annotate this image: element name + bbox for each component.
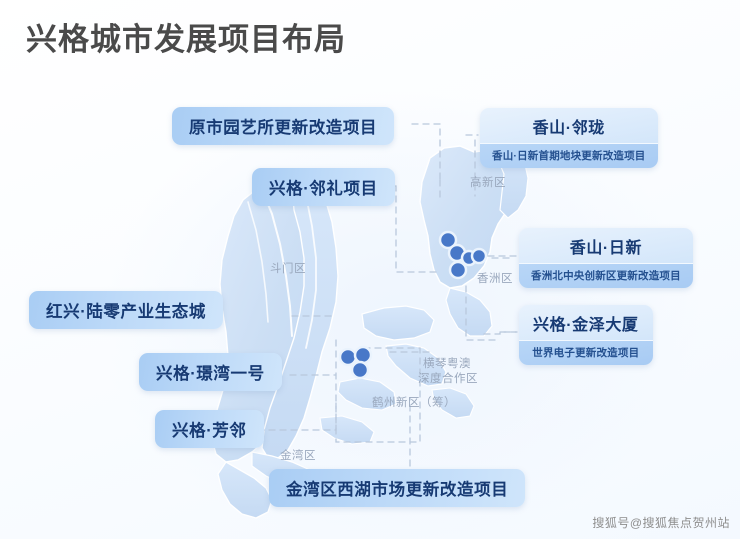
callout-title: 原市园艺所更新改造项目 bbox=[172, 107, 394, 145]
marker-fanglin[interactable] bbox=[352, 362, 368, 378]
district-label: 深度合作区 bbox=[418, 372, 478, 387]
marker-jingwan-b[interactable] bbox=[355, 347, 371, 363]
callout-subtitle: 世界电子更新改造项目 bbox=[519, 341, 653, 365]
callout-xingge-jingwan[interactable]: 兴格·璟湾一号 bbox=[139, 353, 282, 391]
watermark: 搜狐号@搜狐焦点贺州站 bbox=[592, 514, 730, 531]
callout-xiangshan-linglong[interactable]: 香山·邻珑香山·日新首期地块更新改造项目 bbox=[480, 108, 658, 168]
callout-title: 金湾区西湖市场更新改造项目 bbox=[269, 469, 525, 507]
callout-title: 香山·邻珑 bbox=[480, 108, 658, 144]
district-label: 香洲区 bbox=[477, 272, 513, 287]
callout-title: 兴格·芳邻 bbox=[155, 410, 264, 448]
callout-jinwan-xihu[interactable]: 金湾区西湖市场更新改造项目 bbox=[269, 469, 525, 507]
callout-yuanshi-yuanyisuo[interactable]: 原市园艺所更新改造项目 bbox=[172, 107, 394, 145]
callout-title: 兴格·璟湾一号 bbox=[139, 353, 282, 391]
callout-title: 兴格·邻礼项目 bbox=[252, 168, 395, 206]
district-label: 高新区 bbox=[470, 176, 506, 191]
marker-jinze-b[interactable] bbox=[472, 249, 486, 263]
callout-xingge-lingli[interactable]: 兴格·邻礼项目 bbox=[252, 168, 395, 206]
callout-subtitle: 香山·日新首期地块更新改造项目 bbox=[480, 144, 658, 168]
callout-title: 香山·日新 bbox=[519, 228, 693, 264]
district-label: 斗门区 bbox=[270, 262, 306, 277]
callout-title: 红兴·陆零产业生态城 bbox=[29, 291, 223, 329]
callout-xingge-jinze[interactable]: 兴格·金泽大厦世界电子更新改造项目 bbox=[519, 305, 653, 365]
callout-title: 兴格·金泽大厦 bbox=[519, 305, 653, 341]
marker-jingwan-a[interactable] bbox=[340, 349, 356, 365]
callout-xiangshan-rixin[interactable]: 香山·日新香洲北中央创新区更新改造项目 bbox=[519, 228, 693, 288]
callout-xingge-fanglin[interactable]: 兴格·芳邻 bbox=[155, 410, 264, 448]
marker-xiangzhou-south[interactable] bbox=[450, 262, 466, 278]
district-label: 鹤州新区（筹） bbox=[372, 396, 456, 411]
district-label: 横琴粤澳 bbox=[423, 357, 471, 372]
callout-subtitle: 香洲北中央创新区更新改造项目 bbox=[519, 264, 693, 288]
poster-root: 兴格城市发展项目布局 bbox=[0, 0, 740, 539]
district-label: 金湾区 bbox=[280, 449, 316, 464]
callout-hongxing-luling[interactable]: 红兴·陆零产业生态城 bbox=[29, 291, 223, 329]
